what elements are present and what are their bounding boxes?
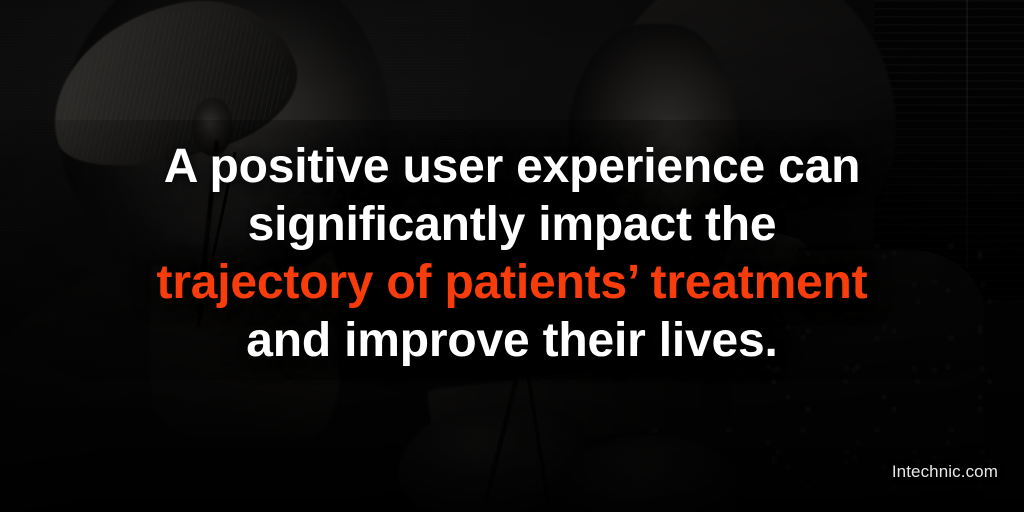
headline-line-3-accent: trajectory of patients’ treatment (0, 254, 1024, 312)
headline-quote: A positive user experience can significa… (0, 138, 1024, 370)
headline-line-4: and improve their lives. (0, 312, 1024, 370)
headline-line-1: A positive user experience can (0, 138, 1024, 196)
quote-card: A positive user experience can significa… (0, 0, 1024, 512)
headline-line-2: significantly impact the (0, 196, 1024, 254)
source-attribution[interactable]: Intechnic.com (892, 462, 998, 482)
